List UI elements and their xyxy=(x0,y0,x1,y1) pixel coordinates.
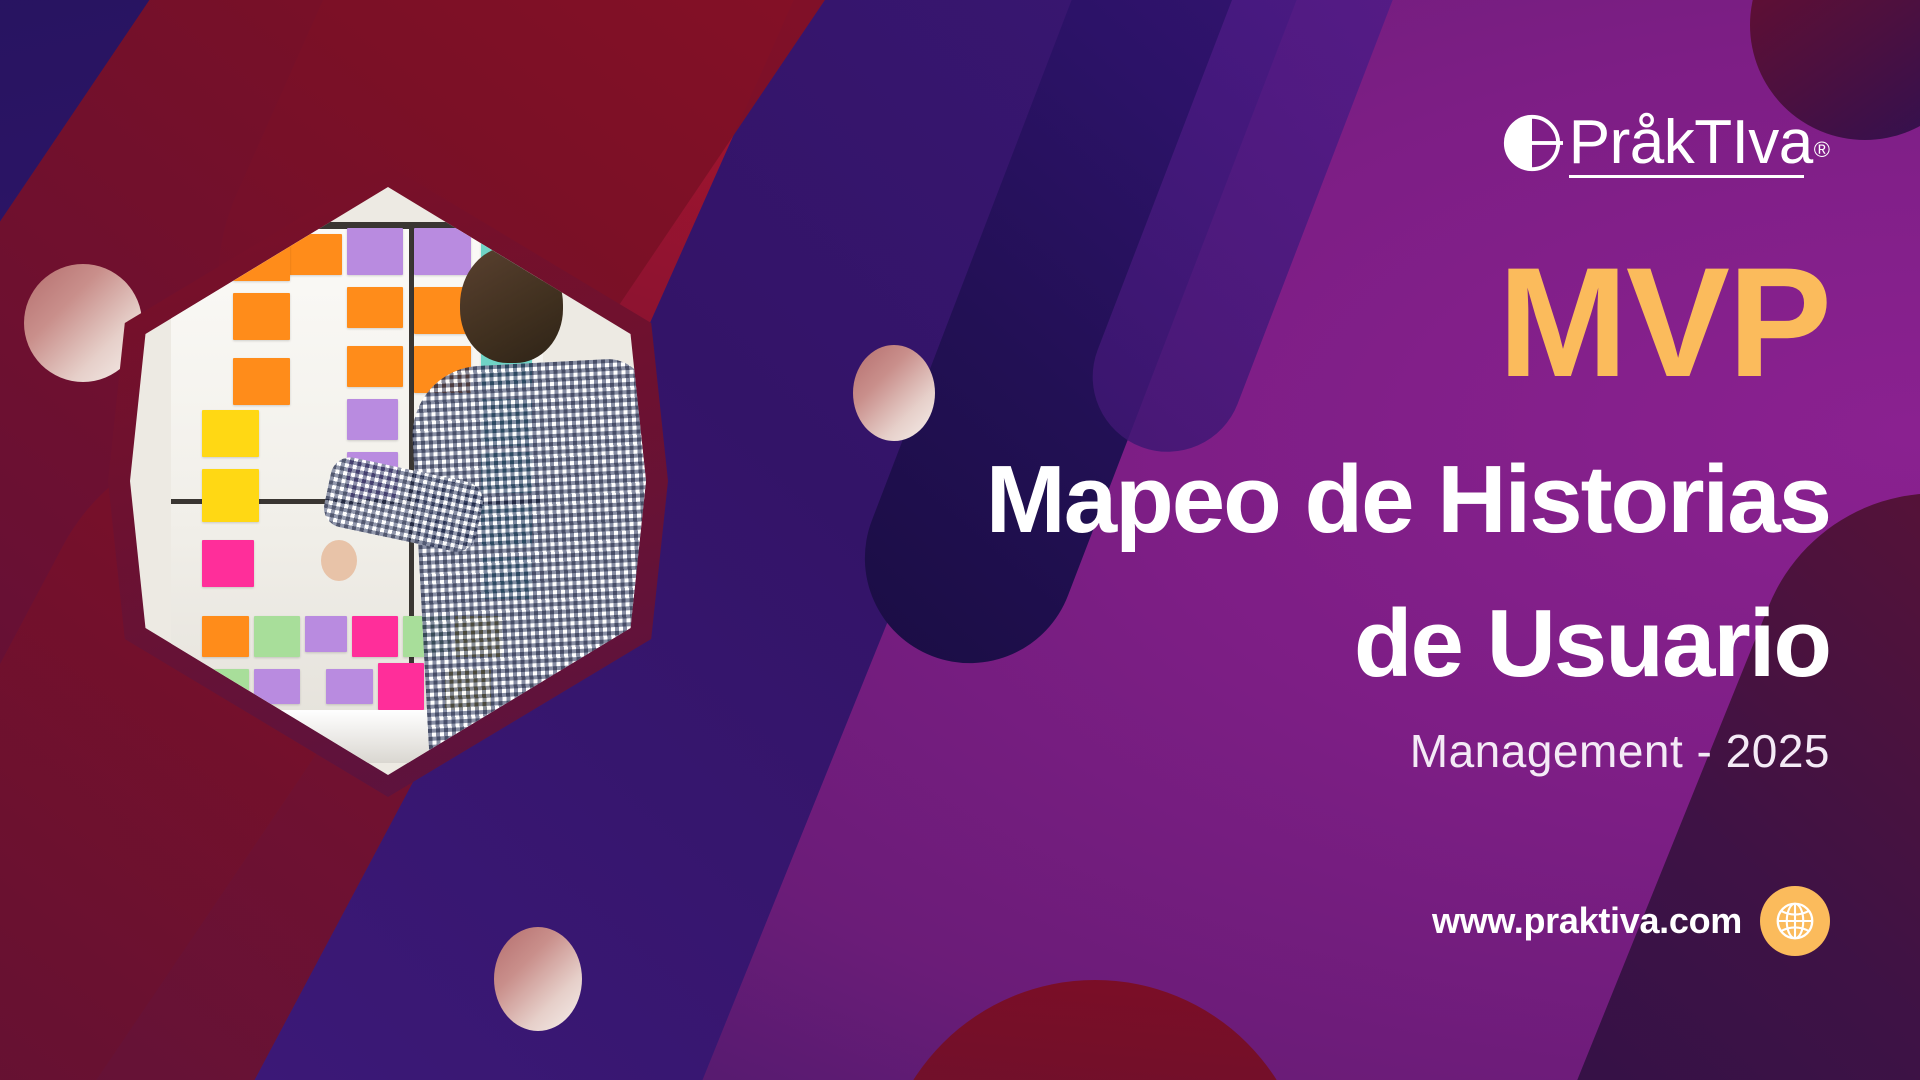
sticky-note xyxy=(352,616,398,657)
logo-wordmark: PråkTIva xyxy=(1569,112,1813,174)
logo-underline xyxy=(1569,175,1804,178)
sticky-note xyxy=(202,410,259,457)
sticky-note xyxy=(347,399,399,440)
person-hand xyxy=(321,540,357,581)
brand-logo[interactable]: PråkTIva® xyxy=(1501,112,1830,174)
sticky-note xyxy=(202,616,248,657)
sticky-note xyxy=(347,287,404,328)
content-column: PråkTIva® MVP Mapeo de Historias de Usua… xyxy=(770,0,1830,1080)
eyebrow-mvp: MVP xyxy=(1498,252,1830,396)
page-title-line-2: de Usuario xyxy=(1354,596,1830,692)
sticky-note xyxy=(347,346,404,387)
page-title-line-1: Mapeo de Historias xyxy=(986,452,1830,548)
sticky-note xyxy=(326,669,372,704)
presentation-slide: PråkTIva® MVP Mapeo de Historias de Usua… xyxy=(0,0,1920,1080)
sticky-note xyxy=(233,358,290,405)
sticky-note xyxy=(254,616,300,657)
sticky-note xyxy=(233,293,290,340)
website-url-text: www.praktiva.com xyxy=(1432,900,1742,942)
sticky-note xyxy=(347,228,404,275)
globe-badge xyxy=(1760,886,1830,956)
subtitle: Management - 2025 xyxy=(1410,728,1830,774)
sticky-note xyxy=(378,663,424,710)
hexagon-photo-frame xyxy=(108,165,668,797)
praktiva-circle-mark-icon xyxy=(1501,112,1563,174)
registered-trademark-mark: ® xyxy=(1814,137,1830,162)
website-link[interactable]: www.praktiva.com xyxy=(1432,886,1830,956)
logo-wordmark-wrap: PråkTIva® xyxy=(1569,112,1830,174)
globe-icon xyxy=(1772,898,1818,944)
sticky-note xyxy=(414,228,471,275)
sticky-note xyxy=(305,616,346,651)
sticky-note xyxy=(202,540,254,587)
rose-gradient-dot-bottom xyxy=(494,927,582,1031)
sticky-note xyxy=(202,469,259,522)
